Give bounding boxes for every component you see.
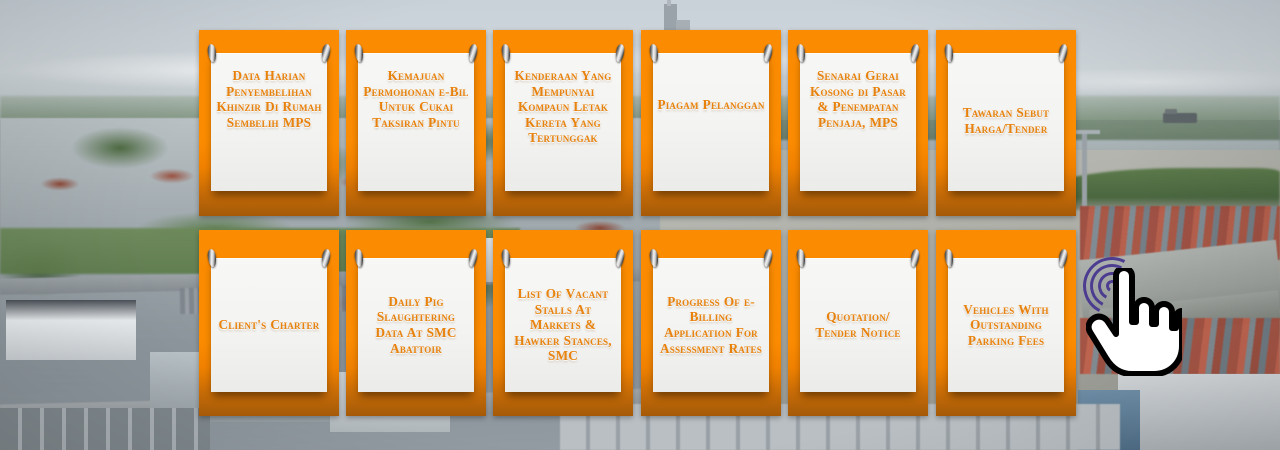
- paper-note: Data Harian Penyembelihan Khinzir Di Rum…: [211, 53, 327, 191]
- service-card[interactable]: Client's Charter: [199, 230, 339, 416]
- card-label: Senarai Gerai Kosong di Pasar & Penempat…: [804, 68, 912, 130]
- service-card-grid: Data Harian Penyembelihan Khinzir Di Rum…: [199, 30, 1081, 420]
- paper-note: Quotation/ Tender Notice: [800, 258, 916, 392]
- paper-note: Vehicles With Outstanding Parking Fees: [948, 258, 1064, 392]
- paper-clip-icon: [910, 44, 920, 63]
- card-label: Piagam Pelanggan: [657, 97, 765, 113]
- paper-clip-icon: [501, 44, 511, 63]
- service-card[interactable]: Piagam Pelanggan: [641, 30, 781, 216]
- service-card[interactable]: List Of Vacant Stalls At Markets & Hawke…: [493, 230, 633, 416]
- page-root: Data Harian Penyembelihan Khinzir Di Rum…: [0, 0, 1280, 450]
- service-card[interactable]: Tawaran Sebut Harga/Tender: [936, 30, 1076, 216]
- paper-note: Piagam Pelanggan: [653, 53, 769, 191]
- service-card[interactable]: Vehicles With Outstanding Parking Fees: [936, 230, 1076, 416]
- paper-clip-icon: [1058, 44, 1068, 63]
- paper-clip-icon: [796, 44, 806, 63]
- service-card[interactable]: Daily Pig Slaughtering Data At SMC Abatt…: [346, 230, 486, 416]
- paper-clip-icon: [207, 44, 217, 63]
- card-label: List Of Vacant Stalls At Markets & Hawke…: [509, 258, 617, 392]
- card-label: Quotation/ Tender Notice: [804, 258, 912, 392]
- paper-note: Senarai Gerai Kosong di Pasar & Penempat…: [800, 53, 916, 191]
- card-label: Kemajuan Permohonan e-Bil Untuk Cukai Ta…: [362, 68, 470, 130]
- service-card[interactable]: Kenderaan Yang Mempunyai Kompaun Letak K…: [493, 30, 633, 216]
- paper-clip-icon: [649, 44, 659, 63]
- service-card[interactable]: Kemajuan Permohonan e-Bil Untuk Cukai Ta…: [346, 30, 486, 216]
- card-row-2: Client's Charter Daily Pig Slaughtering …: [199, 230, 1081, 416]
- card-label: Daily Pig Slaughtering Data At SMC Abatt…: [362, 258, 470, 392]
- paper-clip-icon: [321, 44, 331, 63]
- paper-note: List Of Vacant Stalls At Markets & Hawke…: [505, 258, 621, 392]
- service-card[interactable]: Senarai Gerai Kosong di Pasar & Penempat…: [788, 30, 928, 216]
- card-label: Progress Of e-Billing Application For As…: [657, 258, 765, 392]
- card-label: Kenderaan Yang Mempunyai Kompaun Letak K…: [509, 68, 617, 146]
- paper-note: Daily Pig Slaughtering Data At SMC Abatt…: [358, 258, 474, 392]
- card-row-1: Data Harian Penyembelihan Khinzir Di Rum…: [199, 30, 1081, 216]
- paper-note: Kemajuan Permohonan e-Bil Untuk Cukai Ta…: [358, 53, 474, 191]
- paper-clip-icon: [468, 44, 478, 63]
- paper-clip-icon: [354, 44, 364, 63]
- card-label: Client's Charter: [215, 258, 323, 392]
- paper-clip-icon: [944, 44, 954, 63]
- service-card[interactable]: Quotation/ Tender Notice: [788, 230, 928, 416]
- service-card[interactable]: Data Harian Penyembelihan Khinzir Di Rum…: [199, 30, 339, 216]
- card-label: Tawaran Sebut Harga/Tender: [952, 105, 1060, 136]
- paper-note: Tawaran Sebut Harga/Tender: [948, 53, 1064, 191]
- paper-note: Kenderaan Yang Mempunyai Kompaun Letak K…: [505, 53, 621, 191]
- service-card[interactable]: Progress Of e-Billing Application For As…: [641, 230, 781, 416]
- paper-clip-icon: [615, 44, 625, 63]
- paper-clip-icon: [763, 44, 773, 63]
- paper-note: Client's Charter: [211, 258, 327, 392]
- card-label: Vehicles With Outstanding Parking Fees: [952, 258, 1060, 392]
- paper-note: Progress Of e-Billing Application For As…: [653, 258, 769, 392]
- card-label: Data Harian Penyembelihan Khinzir Di Rum…: [215, 68, 323, 130]
